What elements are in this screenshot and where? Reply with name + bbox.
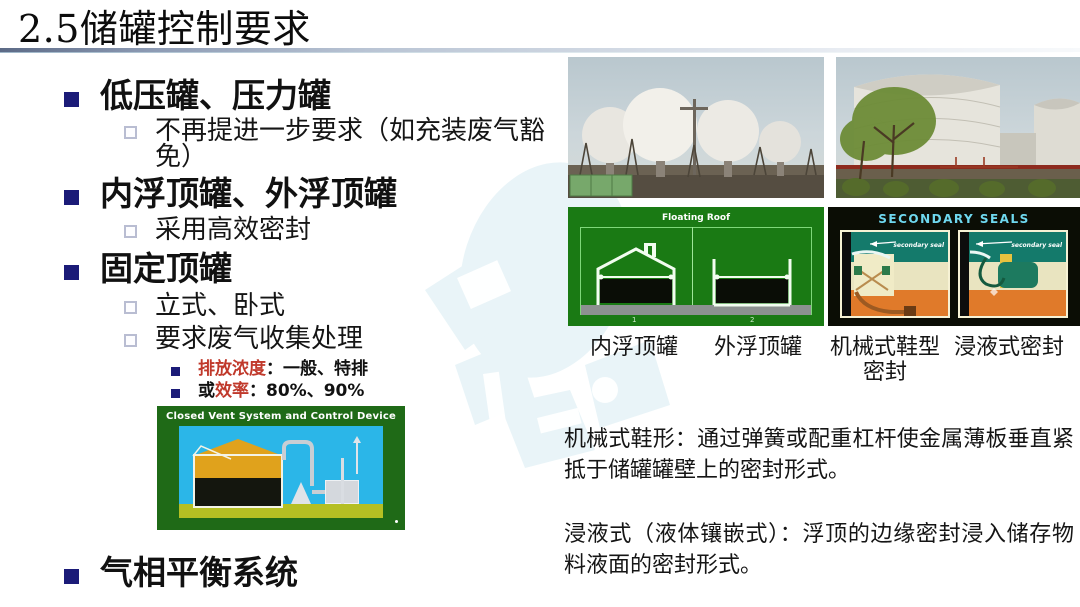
- paragraph-mechanical-shoe-seal: 机械式鞋形：通过弹簧或配重杠杆使金属薄板垂直紧抵于储罐罐壁上的密封形式。: [564, 424, 1074, 486]
- closed-vent-system-image: Closed Vent System and Control Device: [157, 406, 405, 530]
- bullet-level1-low-pressure-tank: 低压罐、压力罐: [0, 79, 560, 114]
- caption-liquid-mounted-seal: 浸液式密封: [950, 336, 1068, 385]
- bullet-label: 要求废气收集处理: [155, 324, 363, 354]
- bullet-label: 内浮顶罐、外浮顶罐: [62, 177, 397, 212]
- bullet-hollow-square-icon: [124, 301, 137, 314]
- bullet-level3-efficiency: 或效率：80%、90%: [0, 382, 560, 402]
- bullet-level1-vapor-balance-system: 气相平衡系统: [0, 556, 298, 591]
- bullet-square-icon: [64, 190, 79, 205]
- bullet-square-icon: [64, 92, 79, 107]
- bullet-label-highlight: 效率: [215, 381, 249, 401]
- bullet-label-prefix: 或: [198, 381, 215, 401]
- bullet-list: 低压罐、压力罐 不再提进一步要求（如充装废气豁免） 内浮顶罐、外浮顶罐 采用高效…: [0, 79, 560, 402]
- caption-external-floating-roof: 外浮顶罐: [696, 336, 820, 385]
- bullet-label: 不再提进一步要求（如充装废气豁免）: [155, 116, 545, 173]
- image-caption-row: 内浮顶罐 外浮顶罐 机械式鞋型密封 浸液式密封: [562, 336, 1080, 385]
- secondary-seal-label: secondary seal: [893, 242, 944, 249]
- spherical-pressure-tanks-photo: [568, 57, 824, 198]
- slide-header: 2.5储罐控制要求: [0, 0, 1080, 52]
- caption-internal-floating-roof: 内浮顶罐: [572, 336, 696, 385]
- stack-shape: [341, 458, 344, 504]
- bullet-level3-emission-concentration: 排放浓度：一般、特排: [0, 360, 560, 380]
- bullet-label: 采用高效密封: [155, 215, 311, 245]
- title-divider-accent: [0, 52, 1080, 53]
- bullet-level2-waste-gas-collection: 要求废气收集处理: [0, 326, 560, 353]
- closed-vent-scene: [179, 426, 383, 518]
- bullet-small-square-icon: [171, 367, 180, 376]
- caption-mechanical-shoe-seal: 机械式鞋型密封: [820, 336, 950, 385]
- floating-roof-diagram: Floating Roof 1 2: [568, 207, 824, 326]
- paragraph-liquid-mounted-seal: 浸液式（液体镶嵌式）：浮顶的边缘密封浸入储存物料液面的密封形式。: [564, 519, 1074, 581]
- panel-number-1: 1: [632, 316, 636, 324]
- corner-dot-icon: [395, 520, 398, 523]
- secondary-seal-label: secondary seal: [1011, 242, 1062, 249]
- bullet-square-icon: [64, 265, 79, 280]
- bullet-label: ：一般、特排: [266, 359, 368, 379]
- vent-piping: [179, 426, 383, 518]
- closed-vent-system-caption: Closed Vent System and Control Device: [157, 411, 405, 422]
- bullet-label-highlight: 排放浓度: [198, 359, 266, 379]
- bullet-level1-fixed-roof-tank: 固定顶罐: [0, 252, 560, 287]
- bullet-hollow-square-icon: [124, 126, 137, 139]
- page-title: 2.5储罐控制要求: [18, 0, 311, 53]
- blower-shape: [291, 482, 311, 504]
- bullet-level2-vertical-horizontal: 立式、卧式: [0, 293, 560, 320]
- bullet-label: 低压罐、压力罐: [62, 79, 331, 114]
- bullet-label: 气相平衡系统: [62, 556, 298, 591]
- bullet-label: 固定顶罐: [62, 252, 232, 287]
- bullet-level2-high-efficiency-seal: 采用高效密封: [0, 217, 560, 244]
- bullet-small-square-icon: [171, 389, 180, 398]
- secondary-seal-panel-liquid-mounted: secondary seal: [958, 230, 1068, 318]
- bullet-hollow-square-icon: [124, 225, 137, 238]
- right-content-column: Floating Roof 1 2 S: [562, 0, 1080, 607]
- bullet-label: 立式、卧式: [155, 291, 285, 321]
- bullet-level1-floating-roof-tanks: 内浮顶罐、外浮顶罐: [0, 177, 560, 212]
- panel-number-2: 2: [750, 316, 754, 324]
- secondary-seals-diagram: SECONDARY SEALS secondary seal: [828, 207, 1080, 326]
- bullet-label: ：80%、90%: [249, 381, 364, 401]
- bullet-hollow-square-icon: [124, 334, 137, 347]
- bullet-square-icon: [64, 569, 79, 584]
- bullet-level2-no-further-requirement: 不再提进一步要求（如充装废气豁免）: [0, 118, 560, 171]
- secondary-seal-panel-mechanical: secondary seal: [840, 230, 950, 318]
- secondary-seals-title: SECONDARY SEALS: [828, 212, 1080, 226]
- large-storage-tanks-photo: [836, 57, 1080, 198]
